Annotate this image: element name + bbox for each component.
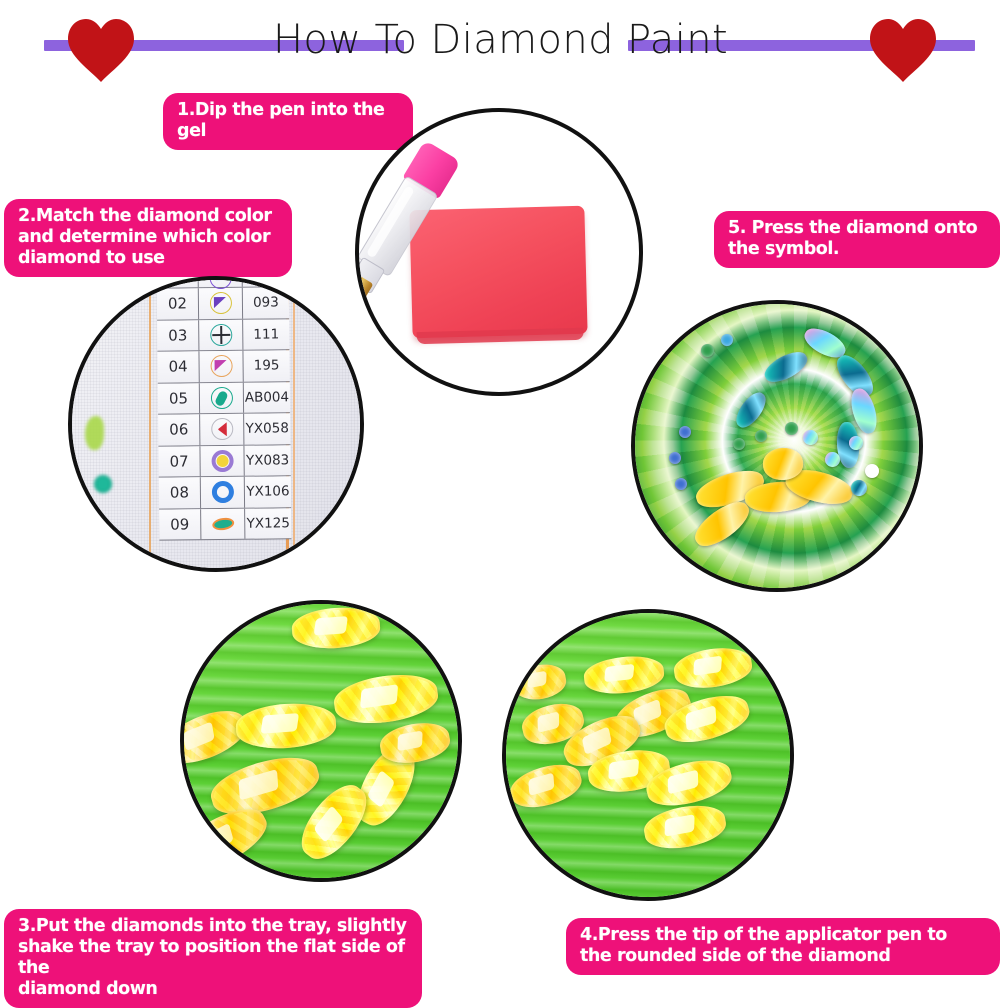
legend-code: YX106	[245, 484, 291, 500]
step-4-label-line: 4.Press the tip of the applicator pen to	[580, 925, 986, 946]
step-5-label-line: the symbol.	[728, 239, 986, 260]
legend-symbol-cell	[199, 276, 243, 287]
placed-round-gem	[733, 438, 745, 450]
leaf-eye-icon	[212, 513, 234, 535]
placed-round-gem	[679, 426, 691, 438]
placed-round-gem	[701, 344, 714, 357]
plus-circle-icon	[210, 324, 232, 346]
open-ring-icon	[211, 481, 233, 503]
legend-number: 03	[157, 320, 199, 351]
step-3-label-line: shake the tray to position the flat side…	[18, 937, 408, 979]
slash-oval-icon	[210, 387, 232, 409]
step-3-label-line: 3.Put the diamonds into the tray, slight…	[18, 916, 408, 937]
legend-number	[157, 276, 199, 288]
step-3-label: 3.Put the diamonds into the tray, slight…	[4, 909, 422, 1008]
legend-number: 07	[158, 446, 200, 477]
step-3-label-line: diamond down	[18, 979, 408, 1000]
photo-pen-in-gel	[355, 108, 643, 396]
color-legend-row: 05AB004	[158, 382, 290, 415]
canvas-guide-line	[149, 280, 151, 568]
placed-round-gem	[825, 452, 840, 467]
legend-code: 195	[244, 358, 290, 374]
canvas-guide-line	[293, 280, 295, 568]
placed-round-gem	[851, 480, 867, 496]
chevron-left-icon	[211, 418, 233, 440]
legend-code: 028	[243, 276, 289, 286]
quarter-triangle-icon	[209, 292, 231, 314]
mandala-canvas	[635, 304, 919, 588]
legend-code: 093	[243, 295, 289, 311]
legend-symbol-cell	[200, 382, 244, 413]
step-5-label-line: 5. Press the diamond onto	[728, 218, 986, 239]
color-legend-row: 02093	[157, 287, 289, 320]
legend-code: AB004	[244, 389, 290, 405]
quarter-triangle-icon	[210, 355, 232, 377]
photo-press-onto-symbol	[631, 300, 923, 592]
legend-symbol-cell	[201, 508, 245, 539]
legend-number: 06	[158, 414, 200, 445]
legend-number: 05	[158, 383, 200, 414]
diamond-highlight	[261, 713, 300, 734]
diamond-highlight	[604, 664, 634, 682]
canvas-paint-blob	[85, 416, 104, 450]
legend-symbol-cell	[201, 477, 245, 508]
color-legend-row: 07YX083	[158, 445, 290, 478]
placed-round-gem	[669, 452, 681, 464]
legend-number: 08	[159, 477, 201, 508]
legend-code: 111	[243, 326, 289, 342]
double-dot-circle-icon	[209, 276, 231, 289]
legend-number: 02	[157, 288, 199, 319]
color-legend-row: 03111	[157, 319, 289, 352]
legend-code: YX125	[245, 515, 291, 531]
step-2-label-line: diamond to use	[18, 248, 278, 269]
legend-symbol-cell	[199, 351, 243, 382]
color-legend-row: 06YX058	[158, 413, 290, 446]
legend-symbol-cell	[199, 319, 243, 350]
legend-number: 09	[159, 509, 201, 540]
diamond-highlight	[314, 616, 348, 635]
photo-pen-picks-diamond	[502, 609, 794, 901]
canvas-symbol-mark	[94, 475, 112, 493]
step-4-label-line: the rounded side of the diamond	[580, 946, 986, 967]
infographic-root: How To Diamond Paint 1.Dip the pen into …	[0, 0, 1001, 1001]
color-legend-row: 09YX125	[159, 508, 291, 541]
placed-round-gem	[803, 430, 818, 445]
color-legend-row: 04195	[157, 350, 289, 383]
placed-round-gem	[755, 430, 767, 442]
color-legend-chart: 02802093031110419505AB00406YX05807YX0830…	[157, 276, 292, 541]
step-4-label: 4.Press the tip of the applicator pen to…	[566, 918, 1000, 975]
legend-code: YX083	[245, 452, 291, 468]
header-banner: How To Diamond Paint	[0, 0, 1001, 90]
photo-diamonds-in-tray	[180, 600, 462, 882]
legend-symbol-cell	[199, 288, 243, 319]
legend-symbol-cell	[200, 414, 244, 445]
filled-dot-ring-icon	[211, 450, 233, 472]
step-2-label: 2.Match the diamond color and determine …	[4, 199, 292, 277]
step-2-label-line: 2.Match the diamond color	[18, 206, 278, 227]
photo-color-chart: 02802093031110419505AB00406YX05807YX0830…	[68, 276, 364, 572]
legend-symbol-cell	[200, 445, 244, 476]
placed-round-gem	[675, 478, 687, 490]
placed-round-gem	[785, 422, 798, 435]
step-2-label-line: and determine which color	[18, 227, 278, 248]
pen-body	[502, 609, 503, 620]
placed-round-gem	[849, 436, 863, 450]
gel-pad	[409, 206, 587, 339]
placed-round-gem	[721, 334, 733, 346]
placed-round-gem	[865, 464, 879, 478]
legend-code: YX058	[244, 421, 290, 437]
page-title: How To Diamond Paint	[0, 17, 1001, 63]
legend-number: 04	[157, 351, 199, 382]
step-5-label: 5. Press the diamond onto the symbol.	[714, 211, 1000, 268]
color-legend-row: 08YX106	[159, 476, 291, 509]
